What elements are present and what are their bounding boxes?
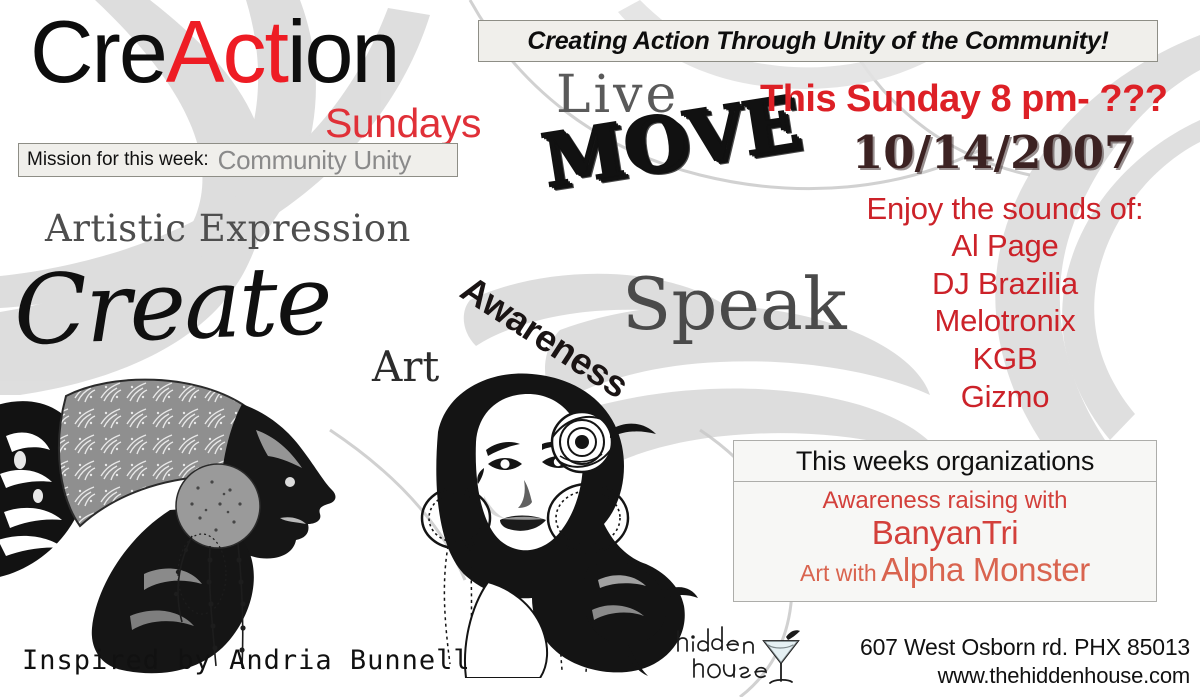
event-date: 10/14/2007 (852, 126, 1135, 179)
venue-address: 607 West Osborn rd. PHX 85013 (820, 634, 1190, 662)
lineup-act: Gizmo (810, 378, 1200, 416)
illustration-woman-portrait (392, 368, 712, 678)
title-segment-cre: Cre (30, 2, 166, 101)
lineup-act: Al Page (810, 227, 1200, 265)
title-segment-act: Act (166, 2, 287, 101)
organization-awareness-name: BanyanTri (872, 514, 1018, 551)
tagline-text: Creating Action Through Unity of the Com… (527, 27, 1108, 56)
lineup-act: KGB (810, 340, 1200, 378)
organizations-panel: This weeks organizations Awareness raisi… (733, 440, 1157, 602)
wordart-art: Art (372, 342, 439, 391)
mission-box: Mission for this week: Community Unity (18, 143, 458, 177)
organizations-header: This weeks organizations (734, 441, 1156, 482)
wordart-artistic-expression: Artistic Expression (45, 207, 411, 250)
organization-art-label: Art with (800, 560, 877, 586)
organizations-body: Awareness raising with BanyanTri Art wit… (734, 482, 1156, 601)
organizations-header-text: This weeks organizations (796, 446, 1094, 477)
mission-label: Mission for this week: (27, 149, 209, 171)
organization-art-row: Art with Alpha Monster (734, 552, 1156, 589)
organization-art-name: Alpha Monster (881, 551, 1090, 588)
credit-line: Inspired by Andria Bunnell (22, 645, 471, 676)
mission-value: Community Unity (218, 145, 411, 176)
lineup-list: Enjoy the sounds of: Al Page DJ Brazilia… (810, 192, 1200, 416)
venue-address-block: 607 West Osborn rd. PHX 85013 www.thehid… (820, 634, 1190, 689)
organization-awareness-name-row: BanyanTri (734, 515, 1156, 552)
wordart-create: Create (12, 244, 332, 367)
lineup-act: Melotronix (810, 302, 1200, 340)
lineup-act: DJ Brazilia (810, 265, 1200, 303)
event-when: This Sunday 8 pm- ??? (760, 78, 1168, 121)
subtitle-sundays: Sundays (325, 100, 481, 147)
page-title: CreAction (30, 8, 398, 96)
venue-website[interactable]: www.thehiddenhouse.com (820, 662, 1190, 690)
tagline-box: Creating Action Through Unity of the Com… (478, 20, 1158, 62)
hidden-house-logo (672, 625, 812, 687)
illustration-woman-profile (0, 378, 354, 678)
lineup-lead: Enjoy the sounds of: (810, 192, 1200, 227)
organization-awareness-label: Awareness raising with (822, 487, 1067, 514)
flyer-poster: CreAction Sundays Creating Action Throug… (0, 0, 1200, 697)
organization-awareness-row: Awareness raising with (734, 488, 1156, 515)
title-segment-ion: ion (287, 2, 398, 101)
wordart-awareness: Awareness (453, 268, 635, 407)
